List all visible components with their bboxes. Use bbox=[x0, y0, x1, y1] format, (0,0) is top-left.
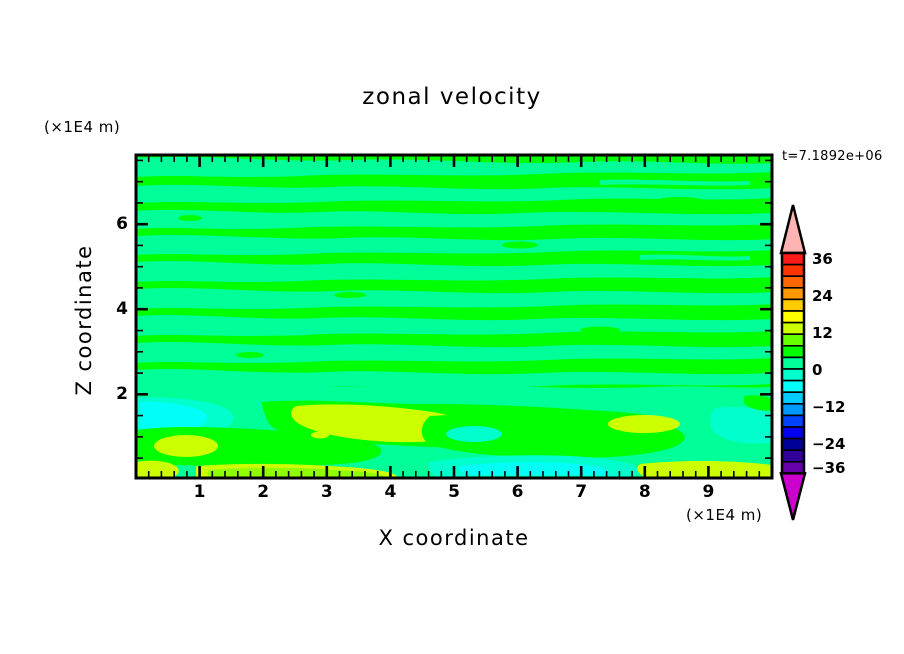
colorbar-tick-label: 12 bbox=[812, 324, 833, 342]
colorbar-tick-label: 0 bbox=[812, 361, 822, 379]
x-axis-title: X coordinate bbox=[136, 526, 772, 550]
colorbar-tick-label: 24 bbox=[812, 287, 833, 305]
x-tick-label: 4 bbox=[375, 482, 405, 502]
x-tick-label: 5 bbox=[439, 482, 469, 502]
colorbar-tick-label: −36 bbox=[812, 459, 845, 477]
contour-field bbox=[136, 155, 772, 478]
colorbar-tick-label: −12 bbox=[812, 398, 845, 416]
page-title: zonal velocity bbox=[0, 84, 904, 110]
colorbar-tick-label: −24 bbox=[812, 435, 845, 453]
x-tick-label: 7 bbox=[566, 482, 596, 502]
colorbar-tick-label: 36 bbox=[812, 250, 833, 268]
y-tick-label: 2 bbox=[98, 384, 128, 404]
y-axis-unit-label: (×1E4 m) bbox=[44, 118, 120, 136]
x-tick-label: 1 bbox=[185, 482, 215, 502]
x-tick-label: 9 bbox=[693, 482, 723, 502]
colorbar-bands bbox=[782, 253, 804, 473]
x-tick-label: 3 bbox=[312, 482, 342, 502]
x-tick-label: 8 bbox=[630, 482, 660, 502]
x-tick-label: 2 bbox=[248, 482, 278, 502]
y-axis-title: Z coordinate bbox=[72, 220, 96, 420]
time-annotation: t=7.1892e+06 bbox=[782, 149, 883, 164]
x-axis-unit-label: (×1E4 m) bbox=[686, 506, 762, 524]
y-tick-label: 4 bbox=[98, 299, 128, 319]
y-tick-label: 6 bbox=[98, 214, 128, 234]
colorbar bbox=[781, 205, 805, 520]
x-tick-label: 6 bbox=[503, 482, 533, 502]
